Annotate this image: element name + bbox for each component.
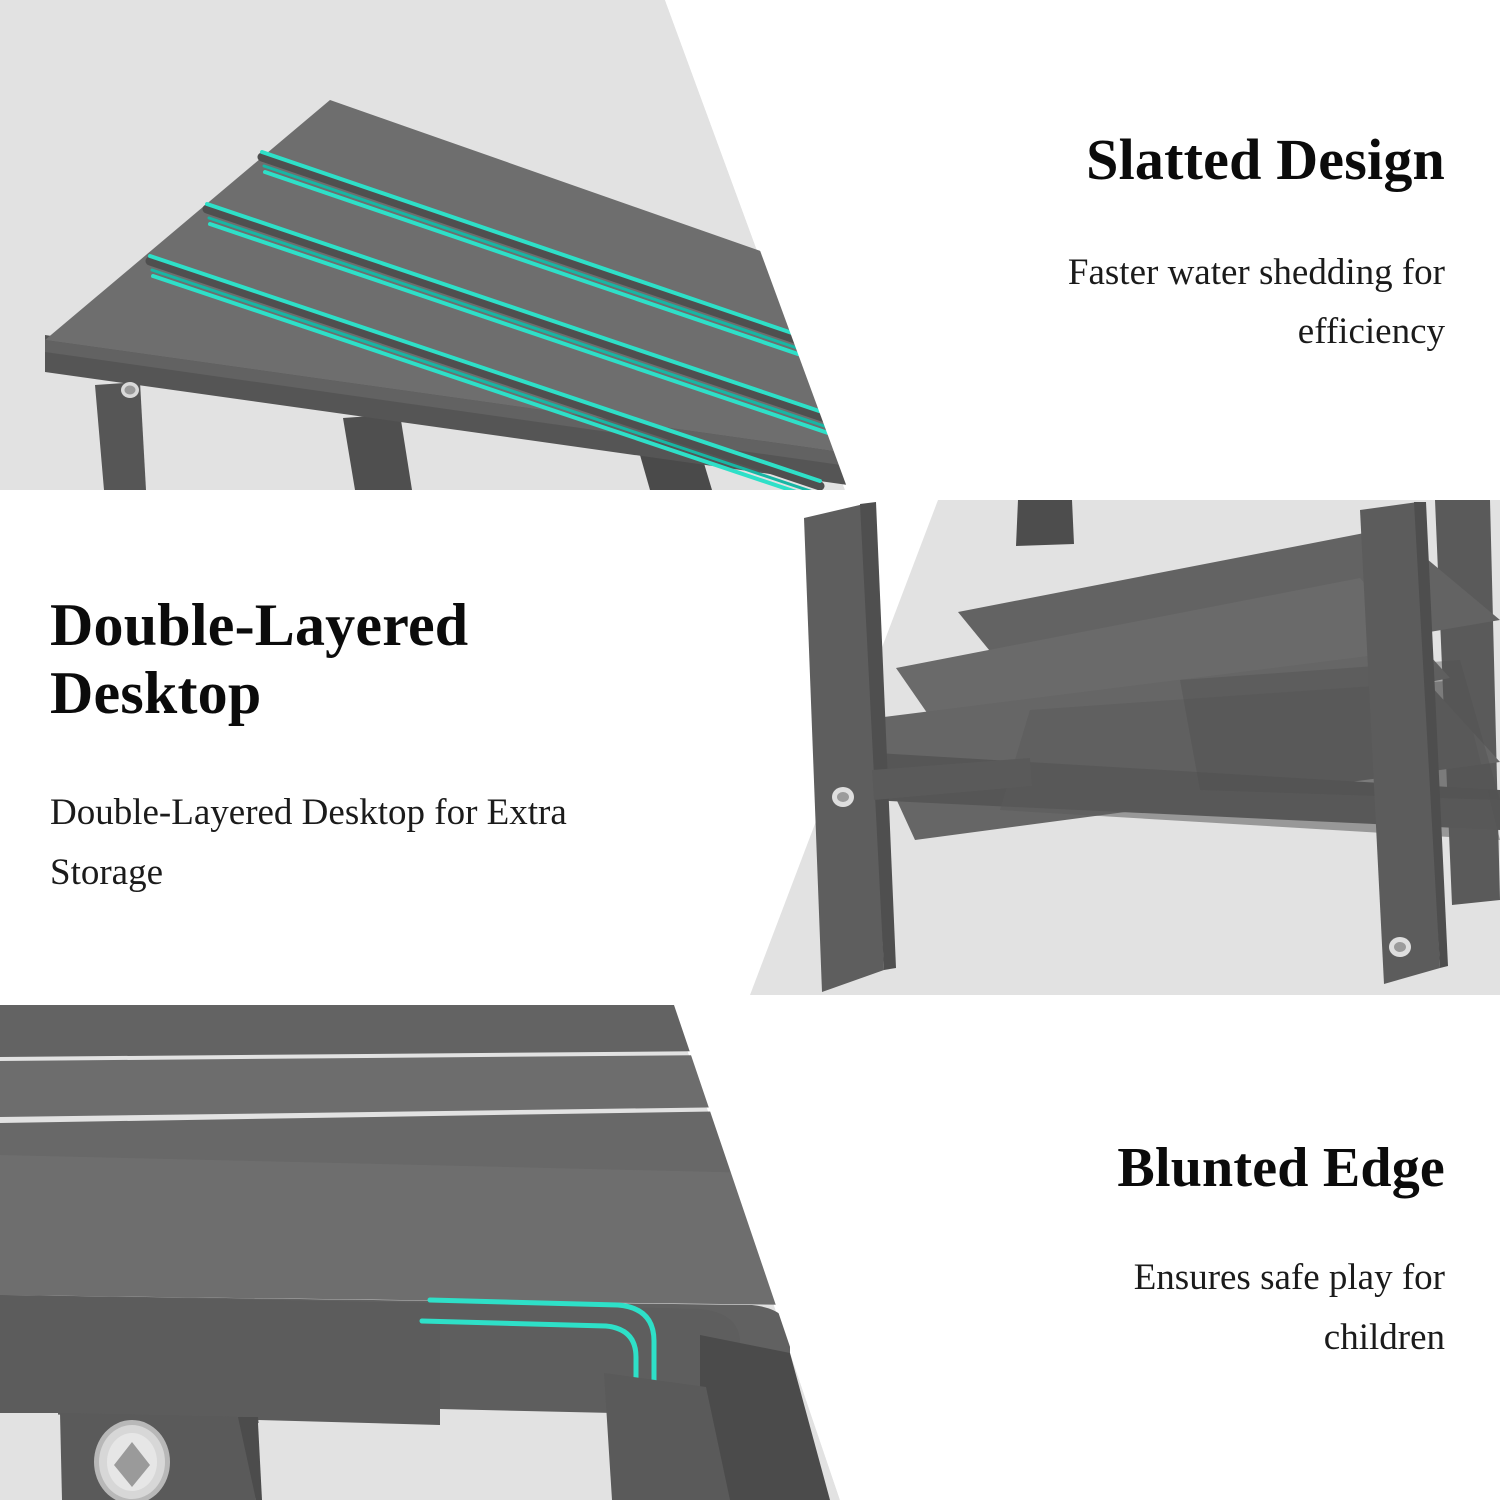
slatted-design-copy: Slatted Design Faster water shedding for… (980, 0, 1500, 490)
slatted-tabletop-image (0, 0, 950, 490)
double-layered-desktop-copy: Double-Layered Desktop Double-Layered De… (0, 500, 640, 995)
feature-title-double-layered-desktop: Double-Layered Desktop (50, 592, 570, 726)
feature-title-blunted-edge: Blunted Edge (1117, 1137, 1445, 1200)
rounded-corner-illustration (0, 1005, 950, 1500)
feature-body-slatted-design: Faster water shedding for efficiency (1015, 243, 1445, 363)
slatted-tabletop-illustration (0, 0, 950, 490)
feature-body-blunted-edge: Ensures safe play for children (1015, 1248, 1445, 1368)
rounded-corner-image (0, 1005, 950, 1500)
feature-panel-blunted-edge: Blunted Edge Ensures safe play for child… (0, 1005, 1500, 1500)
feature-panel-double-layered-desktop: Double-Layered Desktop Double-Layered De… (0, 500, 1500, 995)
product-feature-infographic: Slatted Design Faster water shedding for… (0, 0, 1500, 1500)
feature-body-double-layered-desktop: Double-Layered Desktop for Extra Storage (50, 783, 590, 903)
feature-title-slatted-design: Slatted Design (1086, 128, 1445, 193)
lower-shelf-illustration (700, 500, 1500, 995)
blunted-edge-copy: Blunted Edge Ensures safe play for child… (980, 1005, 1500, 1500)
lower-shelf-image (700, 500, 1500, 995)
feature-panel-slatted-design: Slatted Design Faster water shedding for… (0, 0, 1500, 490)
